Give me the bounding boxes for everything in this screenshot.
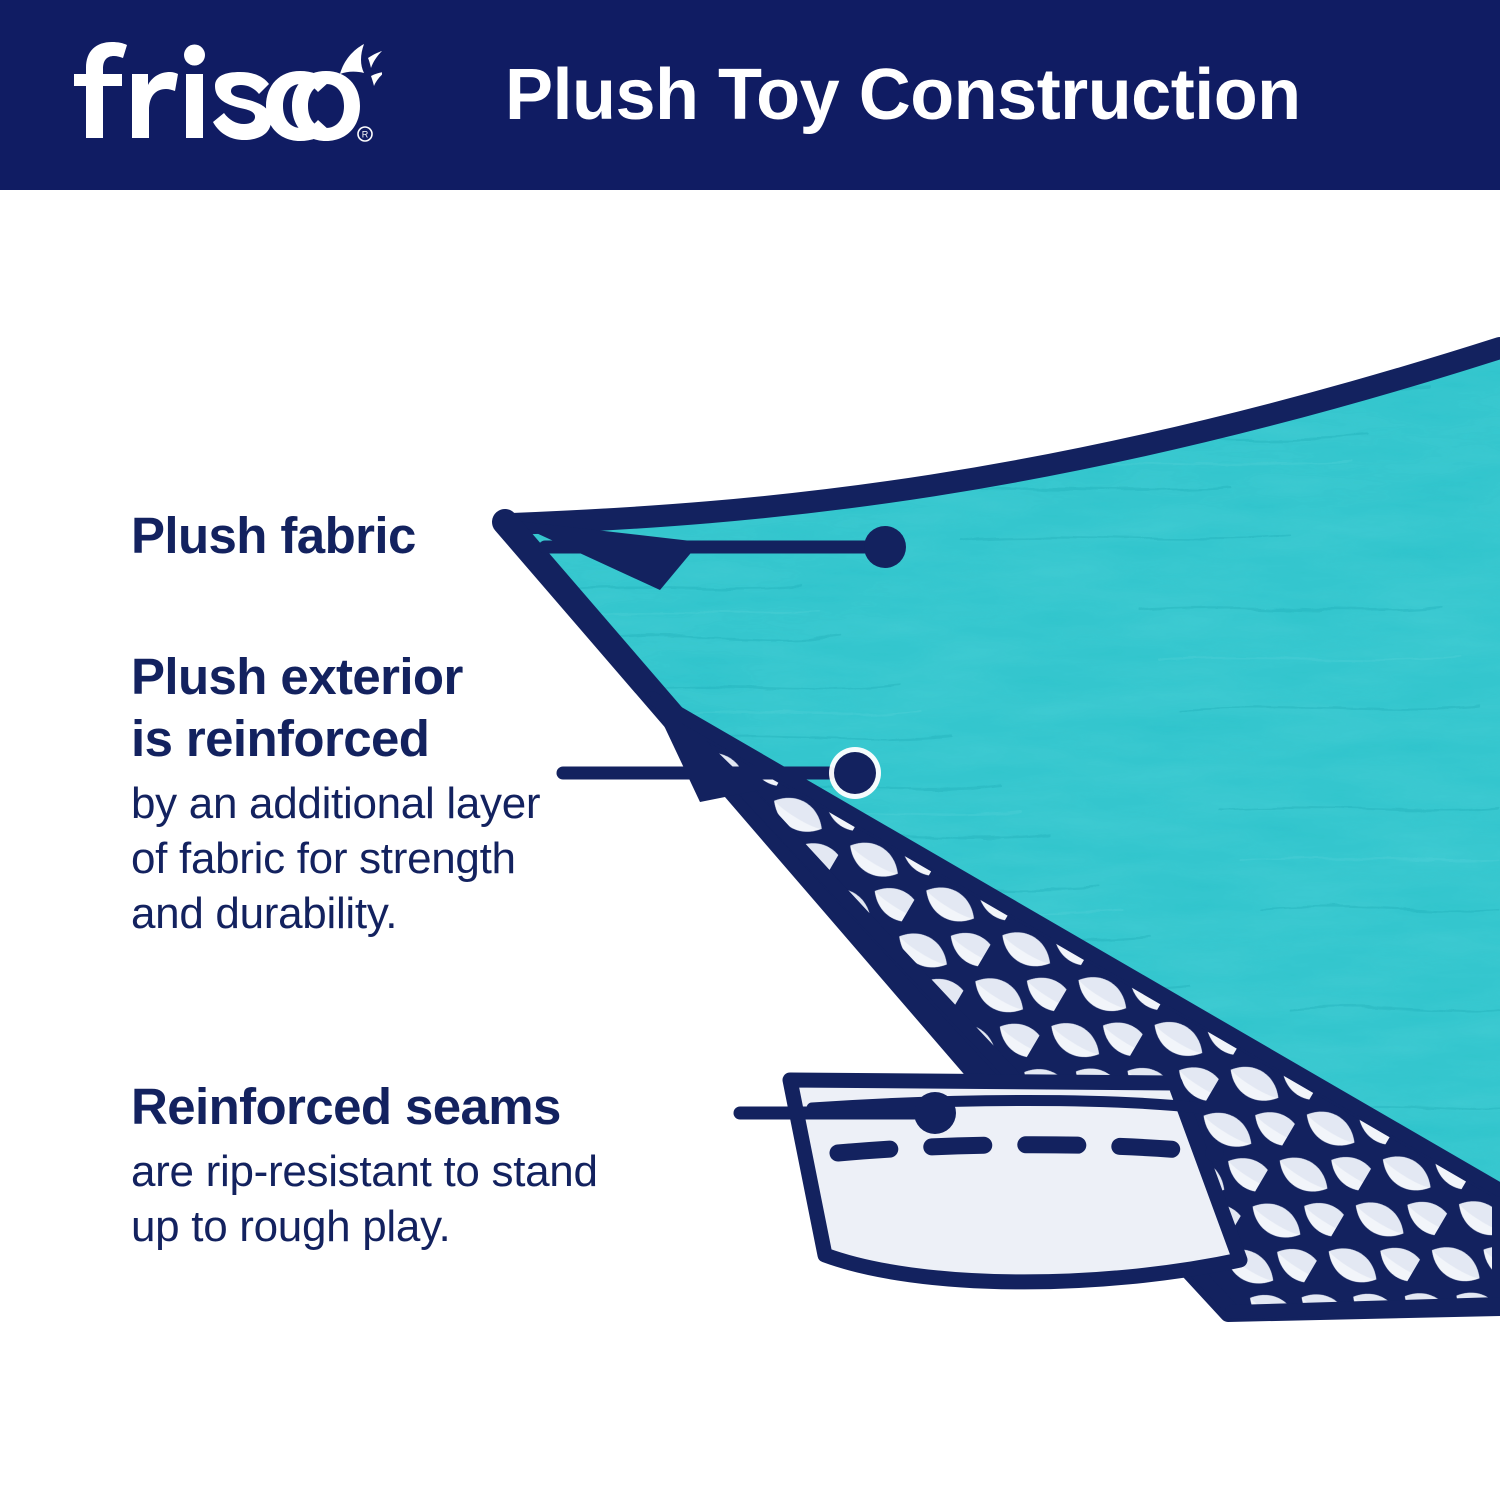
leader-dot-plush-fabric <box>864 526 906 568</box>
callout-body-plush-exterior: by an additional layer of fabric for str… <box>131 776 731 941</box>
callout-plush-exterior: Plush exterior is reinforced by an addit… <box>131 646 731 941</box>
page-title: Plush Toy Construction <box>505 46 1405 144</box>
callout-plush-fabric: Plush fabric <box>131 505 561 567</box>
callout-body-reinforced-seams: are rip-resistant to stand up to rough p… <box>131 1144 791 1254</box>
infographic-page: R Plush Toy Construction <box>0 0 1500 1500</box>
header-bar: R Plush Toy Construction <box>0 0 1500 190</box>
callout-heading-reinforced-seams: Reinforced seams <box>131 1076 791 1138</box>
leader-dot-reinforced-seams <box>914 1092 956 1134</box>
frisco-logo: R <box>72 38 382 148</box>
callout-reinforced-seams: Reinforced seams are rip-resistant to st… <box>131 1076 791 1254</box>
callout-heading-plush-fabric: Plush fabric <box>131 505 561 567</box>
stitch-dashed-line <box>838 1145 1215 1153</box>
registered-trademark-symbol: R <box>362 130 369 140</box>
leader-dot-plush-exterior <box>834 752 876 794</box>
callout-heading-plush-exterior: Plush exterior is reinforced <box>131 646 731 770</box>
